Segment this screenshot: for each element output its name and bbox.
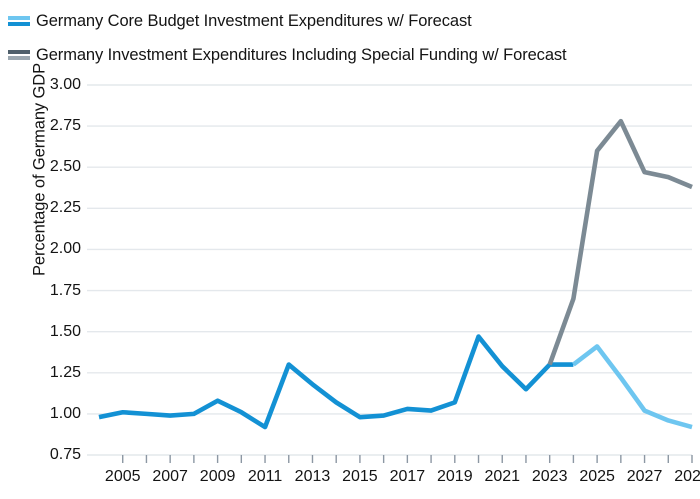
series-line bbox=[573, 346, 692, 427]
gridlines bbox=[87, 85, 692, 455]
plot-svg bbox=[0, 0, 700, 499]
plot-area: Percentage of Germany GDP 3.002.752.502.… bbox=[0, 0, 700, 499]
axis-tick-marks bbox=[123, 455, 692, 463]
series-line bbox=[550, 121, 692, 364]
chart-container: Germany Core Budget Investment Expenditu… bbox=[0, 0, 700, 499]
